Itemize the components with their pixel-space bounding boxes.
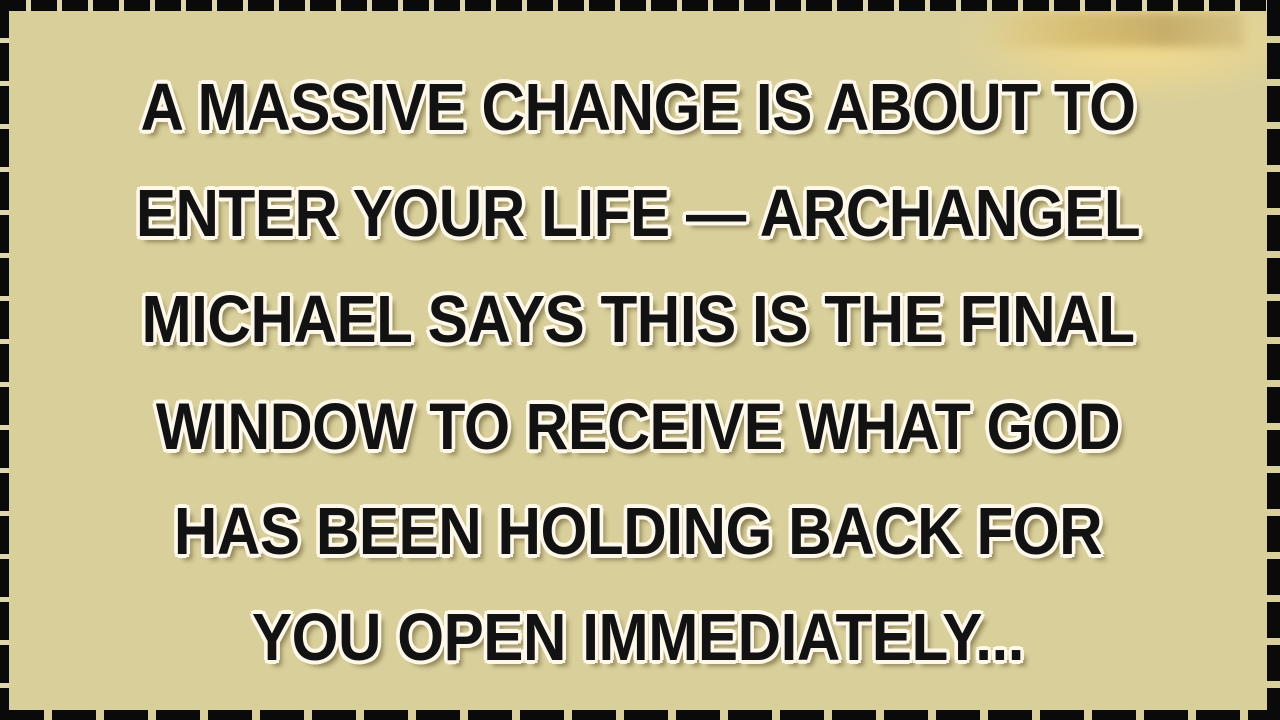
poster-canvas: A MASSIVE CHANGE IS ABOUT TO ENTER YOUR …	[0, 0, 1280, 720]
headline-line-3: MICHAEL SAYS THIS IS THE FINAL	[73, 267, 1203, 373]
dashed-border-top	[0, 0, 1280, 11]
headline-text-block: A MASSIVE CHANGE IS ABOUT TO ENTER YOUR …	[9, 11, 1267, 701]
dashed-border-right	[1267, 0, 1280, 720]
dashed-border-left	[0, 0, 9, 720]
headline-line-4: WINDOW TO RECEIVE WHAT GOD	[73, 373, 1203, 479]
headline-line-1: A MASSIVE CHANGE IS ABOUT TO	[73, 55, 1203, 161]
headline-line-6: YOU OPEN IMMEDIATELY...	[73, 585, 1203, 691]
headline-line-2: ENTER YOUR LIFE — ARCHANGEL	[73, 161, 1203, 267]
headline-line-5: HAS BEEN HOLDING BACK FOR	[73, 479, 1203, 585]
